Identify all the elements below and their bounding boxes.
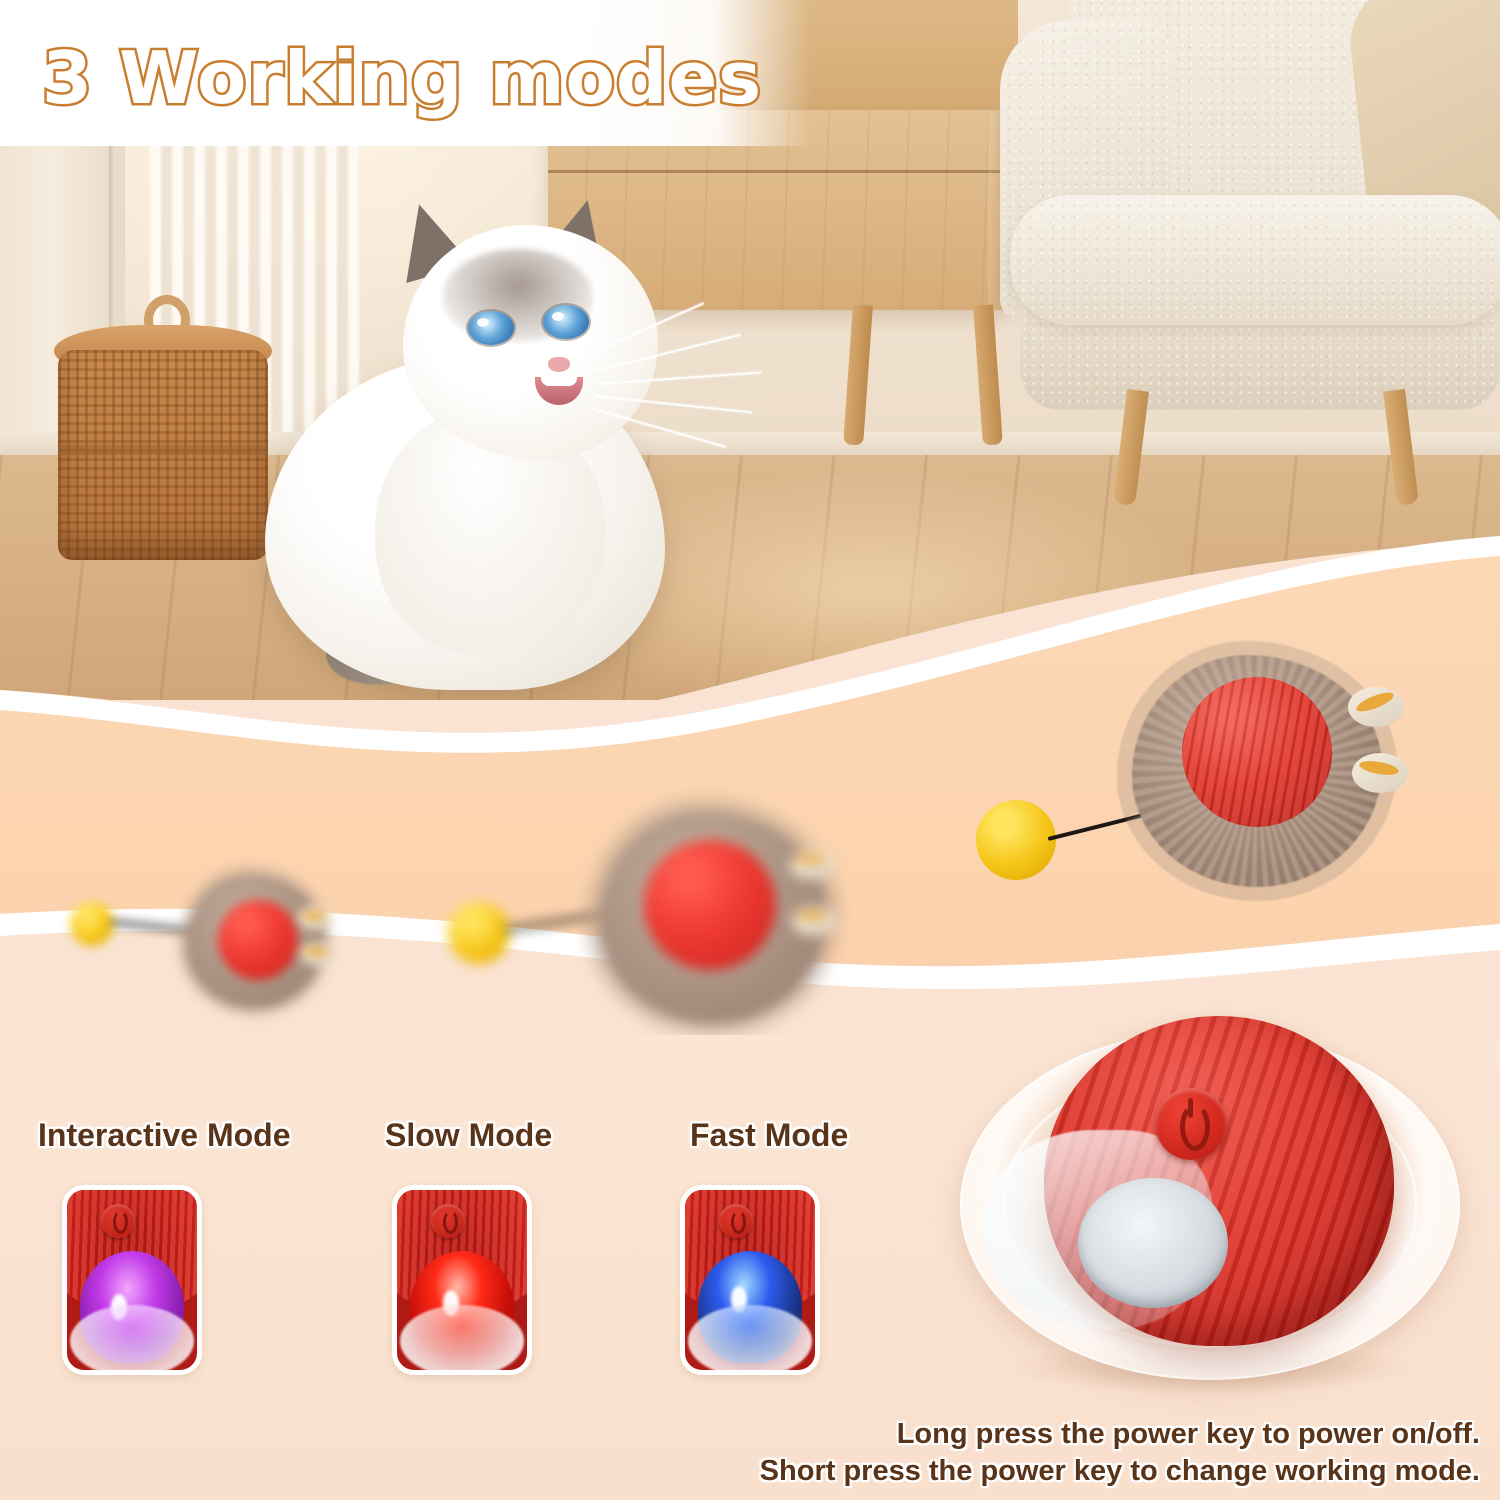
caption-line-1: Long press the power key to power on/off… (700, 1418, 1480, 1451)
clear-base (400, 1305, 525, 1375)
title-banner: 3 Working modes (0, 0, 812, 146)
clear-base (688, 1305, 813, 1375)
sideboard-leg (843, 304, 873, 445)
red-silicone-ball (218, 900, 298, 980)
caption-line-2: Short press the power key to change work… (700, 1455, 1480, 1488)
cat-nose (548, 357, 570, 372)
mode-card-slow[interactable] (392, 1185, 532, 1375)
product-infographic: 3 Working modes I (0, 0, 1500, 1500)
yellow-pompom (448, 902, 510, 964)
claw-tip (1352, 753, 1408, 793)
page-title: 3 Working modes (42, 36, 762, 120)
cat-eye-right (543, 305, 589, 339)
product-hero-photo (960, 1010, 1480, 1390)
rattan-basket (58, 295, 268, 560)
claw-tip (300, 942, 334, 966)
claw-tip (1348, 687, 1404, 727)
yellow-pompom (976, 800, 1056, 880)
drive-wheel (1078, 1178, 1228, 1308)
paw-toy-small (70, 880, 360, 1000)
claw-tip (792, 906, 836, 936)
basket-body (58, 350, 268, 560)
clear-base (70, 1305, 195, 1375)
claw-tip (298, 906, 332, 930)
ragdoll-cat (255, 215, 725, 690)
drawer-seam (548, 170, 1018, 173)
red-silicone-ball (644, 840, 776, 970)
claw-tip (790, 850, 834, 880)
mode-label-interactive: Interactive Mode (38, 1117, 291, 1154)
power-button-icon (719, 1204, 753, 1238)
paw-toy-large (960, 655, 1460, 905)
power-button-icon (431, 1204, 465, 1238)
sideboard-leg (973, 304, 1003, 445)
yellow-pompom (70, 902, 114, 946)
boucle-armchair (1000, 0, 1500, 530)
mode-label-slow: Slow Mode (385, 1117, 552, 1154)
mode-card-interactive[interactable] (62, 1185, 202, 1375)
paw-toy-medium (448, 810, 878, 1000)
chair-cushion (1010, 195, 1500, 325)
cat-eye-left (468, 311, 514, 345)
red-silicone-ball (1182, 677, 1332, 827)
mode-label-fast: Fast Mode (690, 1117, 848, 1154)
basket-band (58, 445, 268, 455)
power-button-icon[interactable] (1155, 1088, 1227, 1160)
mode-card-fast[interactable] (680, 1185, 820, 1375)
power-button-icon (101, 1204, 135, 1238)
